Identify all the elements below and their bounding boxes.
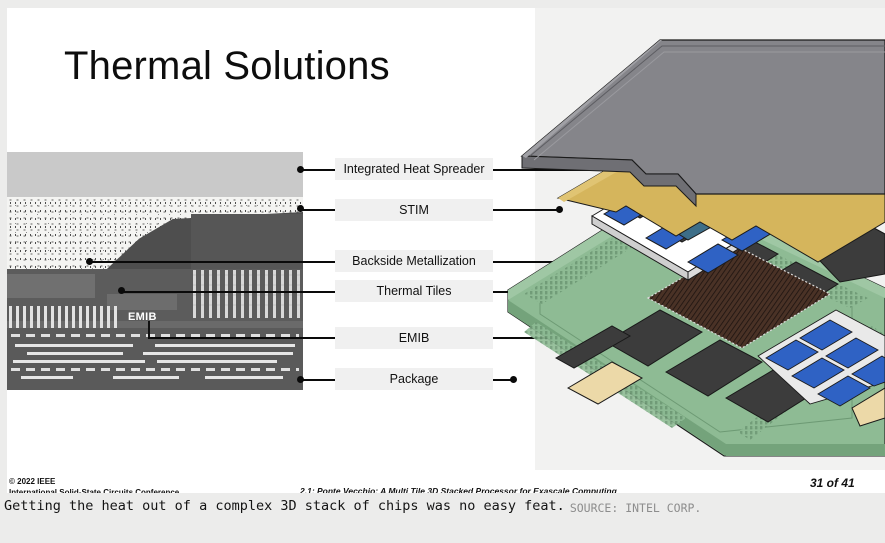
- xsec-emib-inline-label: EMIB: [128, 311, 157, 323]
- callout-label: EMIB: [399, 331, 430, 345]
- footer-copyright-line1: © 2022 IEEE: [9, 476, 179, 487]
- screenshot-root: Thermal Solutions: [0, 0, 885, 543]
- slide-surface: Thermal Solutions: [0, 8, 885, 493]
- footer-copyright: © 2022 IEEE International Solid-State Ci…: [9, 476, 179, 493]
- callout-label: Thermal Tiles: [376, 284, 451, 298]
- callout-package[interactable]: Package: [335, 368, 493, 390]
- caption-text: Getting the heat out of a complex 3D sta…: [4, 497, 565, 515]
- callout-backside-metallization[interactable]: Backside Metallization: [335, 250, 493, 272]
- leader-line-package-left: [303, 379, 335, 381]
- callout-label: Integrated Heat Spreader: [343, 162, 484, 176]
- callout-integrated-heat-spreader[interactable]: Integrated Heat Spreader: [335, 158, 493, 180]
- callout-thermal-tiles[interactable]: Thermal Tiles: [335, 280, 493, 302]
- leader-line-ihs-left: [303, 169, 335, 171]
- caption-source: SOURCE: INTEL CORP.: [570, 497, 702, 517]
- callout-stim[interactable]: STIM: [335, 199, 493, 221]
- callout-label: Backside Metallization: [352, 254, 476, 268]
- xsec-heat-spreader-band: [7, 152, 303, 197]
- leader-line-stim-left: [303, 209, 335, 211]
- leader-line-emib-left: [148, 337, 335, 339]
- page-title: Thermal Solutions: [64, 44, 390, 89]
- footer-page-indicator: 31 of 41: [810, 476, 855, 490]
- xsec-interposer-block-left: [7, 274, 95, 298]
- callout-emib[interactable]: EMIB: [335, 327, 493, 349]
- leader-line-backside-left: [92, 261, 335, 263]
- footer-session-title: 2.1: Ponte Vecchio: A Multi Tile 3D Stac…: [300, 486, 617, 493]
- callout-label: STIM: [399, 203, 429, 217]
- caption-bar: Getting the heat out of a complex 3D sta…: [0, 497, 885, 543]
- exploded-view-diagram: [500, 26, 885, 474]
- footer-copyright-line2: International Solid-State Circuits Confe…: [9, 487, 179, 493]
- xsec-microbump-rows: [193, 270, 303, 318]
- xsec-bump-array: [9, 306, 119, 328]
- callout-label: Package: [390, 372, 439, 386]
- xsec-emib-pointer: [148, 321, 150, 337]
- slide-left-gutter: [0, 8, 7, 493]
- integrated-heat-spreader-layer: [522, 40, 885, 206]
- leader-line-thermal-tiles-left: [124, 291, 335, 293]
- cross-section-image: [7, 152, 303, 390]
